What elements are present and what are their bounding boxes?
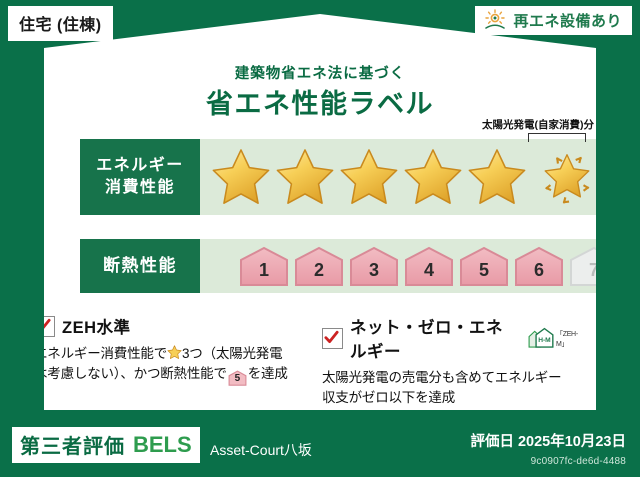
label-panel: 建築物省エネ法に基づく 省エネ性能ラベル エネルギー 消費性能 xyxy=(44,14,596,410)
insulation-level-1-label: 1 xyxy=(259,260,269,287)
energy-key-line2: 消費性能 xyxy=(105,177,175,199)
bels-badge: 第三者評価 BELS xyxy=(12,427,200,463)
insulation-levels-container: 1 2 3 4 5 xyxy=(200,239,620,293)
insulation-level-4: 4 xyxy=(403,245,455,287)
house-type-tag: 住宅 (住棟) xyxy=(8,6,113,41)
insulation-level-5: 5 xyxy=(458,245,510,287)
insulation-level-4-label: 4 xyxy=(424,260,434,287)
criterion-zeh-stars-count: 3つ（太陽光発電 xyxy=(182,346,282,361)
star-filled-1 xyxy=(210,147,272,207)
star-filled-4 xyxy=(402,147,464,207)
insulation-key-label: 断熱性能 xyxy=(103,255,177,278)
criterion-nze-text-1: 太陽光発電の売電分も含めてエネルギー xyxy=(322,370,561,385)
criterion-zeh-text-3: を達成 xyxy=(248,366,288,381)
insulation-performance-key: 断熱性能 xyxy=(80,239,200,293)
label-footer: 第三者評価 BELS Asset-Court八坂 評価日 2025年10月23日… xyxy=(0,417,640,477)
energy-stars-container: 太陽光発電(自家消費)分 xyxy=(200,139,598,215)
evaluation-date: 評価日 2025年10月23日 xyxy=(470,430,626,451)
insulation-level-2: 2 xyxy=(293,245,345,287)
label-title: 省エネ性能ラベル xyxy=(44,82,596,121)
energy-key-line1: エネルギー xyxy=(96,155,184,177)
energy-performance-key: エネルギー 消費性能 xyxy=(80,139,200,215)
energy-performance-label: 住宅 (住棟) 再エネ設備あり 建築物省エ xyxy=(0,0,640,477)
insulation-level-7-label: 7 xyxy=(589,260,599,287)
check-icon xyxy=(34,316,55,337)
insulation-level-7: 7 xyxy=(568,245,620,287)
insulation-level-3: 3 xyxy=(348,245,400,287)
renewable-equipment-badge: 再エネ設備あり xyxy=(475,6,632,35)
evaluation-date-label: 評価日 xyxy=(470,434,514,450)
criterion-zeh-body: エネルギー消費性能で3つ（太陽光発電 は考慮しない）、かつ断熱性能で5を達成 xyxy=(34,344,296,386)
svg-text:H-M: H-M xyxy=(538,337,551,344)
building-name: Asset-Court八坂 xyxy=(210,440,312,460)
criterion-nze-title: ネット・ゼロ・エネルギー xyxy=(350,314,518,362)
evaluation-date-value: 2025年10月23日 xyxy=(518,434,626,450)
star-filled-5 xyxy=(466,147,528,207)
inline-level-value: 5 xyxy=(228,370,247,388)
star-solar-6 xyxy=(536,147,598,207)
energy-performance-row: エネルギー 消費性能 xyxy=(34,139,586,215)
label-subtitle: 建築物省エネ法に基づく xyxy=(44,62,596,83)
third-party-label: 第三者評価 xyxy=(20,430,125,459)
zeh-m-caption: 「ZEH-M」 xyxy=(556,329,584,351)
criterion-net-zero-energy: ネット・ゼロ・エネルギー H-M 「ZEH-M」 太陽光発電の売電分も含めてエネ… xyxy=(322,314,584,409)
criterion-zeh-head: ZEH水準 xyxy=(34,314,296,338)
sun-solar-icon xyxy=(483,9,507,31)
renewable-badge-label: 再エネ設備あり xyxy=(513,10,622,31)
label-uid: 9c0907fc-de6d-4488 xyxy=(531,456,626,467)
criterion-zeh-text-2: は考慮しない）、かつ断熱性能で xyxy=(34,366,227,381)
solar-bracket xyxy=(528,133,586,142)
bels-logo-text: BELS xyxy=(133,432,192,458)
star-filled-3 xyxy=(338,147,400,207)
insulation-level-6-label: 6 xyxy=(534,260,544,287)
insulation-level-1: 1 xyxy=(238,245,290,287)
inline-insulation-level-badge: 5 xyxy=(228,370,247,386)
insulation-level-3-label: 3 xyxy=(369,260,379,287)
insulation-performance-row: 断熱性能 1 xyxy=(34,239,586,293)
criterion-zeh: ZEH水準 エネルギー消費性能で3つ（太陽光発電 は考慮しない）、かつ断熱性能で… xyxy=(34,314,296,386)
inline-star-icon xyxy=(167,345,182,360)
zeh-m-house-icon: H-M 「ZEH-M」 xyxy=(527,325,584,351)
criterion-nze-text-2: 収支がゼロ以下を達成 xyxy=(322,390,455,405)
criterion-nze-body: 太陽光発電の売電分も含めてエネルギー 収支がゼロ以下を達成 xyxy=(322,368,584,409)
criterion-zeh-text-1: エネルギー消費性能で xyxy=(34,346,167,361)
solar-self-consumption-note: 太陽光発電(自家消費)分 xyxy=(482,117,594,132)
criterion-nze-head: ネット・ゼロ・エネルギー H-M 「ZEH-M」 xyxy=(322,314,584,362)
insulation-level-2-label: 2 xyxy=(314,260,324,287)
insulation-level-5-label: 5 xyxy=(479,260,489,287)
star-filled-2 xyxy=(274,147,336,207)
insulation-level-6: 6 xyxy=(513,245,565,287)
criterion-zeh-title: ZEH水準 xyxy=(62,314,131,338)
check-icon xyxy=(322,328,343,349)
